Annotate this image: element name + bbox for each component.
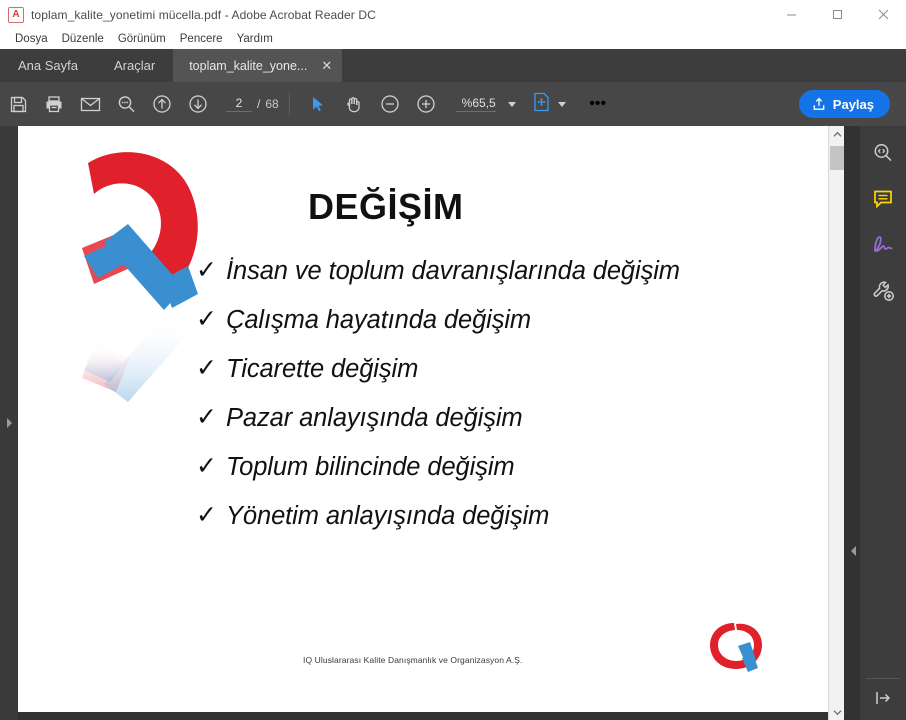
tools-add-icon[interactable] [866, 274, 900, 308]
share-label: Paylaş [833, 97, 874, 112]
find-icon[interactable] [108, 82, 144, 126]
menu-duzenle[interactable]: Düzenle [55, 33, 111, 45]
slide-content: DEĞİŞİM ✓ İnsan ve toplum davranışlarınd… [18, 126, 828, 712]
check-icon: ✓ [190, 354, 226, 384]
previous-page-icon[interactable] [144, 82, 180, 126]
acrobat-reader-window: toplam_kalite_yonetimi mücella.pdf - Ado… [0, 0, 906, 720]
minimize-button[interactable] [768, 0, 814, 29]
page-fit-icon[interactable] [532, 92, 551, 117]
bullet-text: İnsan ve toplum davranışlarında değişim [226, 256, 680, 286]
menu-bar: Dosya Düzenle Görünüm Pencere Yardım [0, 29, 906, 49]
zoom-level[interactable]: %65,5 [456, 96, 496, 112]
iq-logo-large [68, 138, 208, 438]
bullet-list: ✓ İnsan ve toplum davranışlarında değişi… [190, 256, 810, 550]
bullet-text: Yönetim anlayışında değişim [226, 501, 549, 531]
pdf-file-icon [8, 7, 24, 23]
zoom-in-icon[interactable] [408, 82, 444, 126]
menu-gorunum[interactable]: Görünüm [111, 33, 173, 45]
next-page-icon[interactable] [180, 82, 216, 126]
bullet-text: Ticarette değişim [226, 354, 418, 384]
page-fit-chevron-icon[interactable] [558, 102, 566, 107]
total-pages: 68 [265, 97, 278, 111]
save-icon[interactable] [0, 82, 36, 126]
menu-pencere[interactable]: Pencere [173, 33, 230, 45]
iq-logo-small [698, 618, 778, 680]
slide-footer: IQ Uluslararası Kalite Danışmanlık ve Or… [303, 655, 523, 665]
scrollbar-thumb[interactable] [830, 146, 844, 170]
check-icon: ✓ [190, 305, 226, 335]
expand-right-icon [5, 417, 14, 429]
bullet-item: ✓ Ticarette değişim [190, 354, 810, 384]
search-icon[interactable] [866, 136, 900, 170]
window-controls [768, 0, 906, 29]
menu-yardim[interactable]: Yardım [230, 33, 280, 45]
right-tool-panel [860, 126, 906, 720]
bullet-text: Toplum bilincinde değişim [226, 452, 515, 482]
panel-collapse-arrow[interactable] [846, 536, 860, 566]
menu-dosya[interactable]: Dosya [8, 33, 55, 45]
bullet-text: Pazar anlayışında değişim [226, 403, 523, 433]
document-viewer: DEĞİŞİM ✓ İnsan ve toplum davranışlarınd… [0, 126, 906, 720]
maximize-button[interactable] [814, 0, 860, 29]
tab-tools[interactable]: Araçlar [96, 49, 173, 82]
scroll-down-icon[interactable] [829, 704, 845, 720]
check-icon: ✓ [190, 452, 226, 482]
hand-tool-icon[interactable] [336, 82, 372, 126]
check-icon: ✓ [190, 256, 226, 286]
tab-document-label: toplam_kalite_yone... [189, 59, 307, 73]
signature-icon[interactable] [866, 228, 900, 262]
close-icon[interactable]: ✕ [321, 59, 332, 72]
title-bar: toplam_kalite_yonetimi mücella.pdf - Ado… [0, 0, 906, 29]
more-tools-icon[interactable]: ••• [580, 82, 616, 126]
pdf-page: DEĞİŞİM ✓ İnsan ve toplum davranışlarınd… [18, 126, 828, 712]
toolbar-divider-1 [289, 93, 290, 115]
select-tool-icon[interactable] [300, 82, 336, 126]
left-nav-rail[interactable] [0, 126, 18, 720]
page-navigation: 2 / 68 [226, 96, 279, 112]
collapse-panel-icon[interactable] [866, 678, 900, 712]
bullet-item: ✓ İnsan ve toplum davranışlarında değişi… [190, 256, 810, 286]
tab-home[interactable]: Ana Sayfa [0, 49, 96, 82]
print-icon[interactable] [36, 82, 72, 126]
check-icon: ✓ [190, 403, 226, 433]
tab-document[interactable]: toplam_kalite_yone... ✕ [173, 49, 342, 82]
share-button[interactable]: Paylaş [799, 90, 890, 118]
close-button[interactable] [860, 0, 906, 29]
comment-icon[interactable] [866, 182, 900, 216]
email-icon[interactable] [72, 82, 108, 126]
toolbar: 2 / 68 %65,5 [0, 82, 906, 126]
bullet-item: ✓ Yönetim anlayışında değişim [190, 501, 810, 531]
zoom-out-icon[interactable] [372, 82, 408, 126]
vertical-scrollbar[interactable] [828, 126, 844, 720]
current-page-input[interactable]: 2 [226, 96, 252, 112]
check-icon: ✓ [190, 501, 226, 531]
bullet-item: ✓ Pazar anlayışında değişim [190, 403, 810, 433]
scroll-up-icon[interactable] [829, 126, 845, 142]
tab-strip: Ana Sayfa Araçlar toplam_kalite_yone... … [0, 49, 906, 82]
window-title: toplam_kalite_yonetimi mücella.pdf - Ado… [31, 8, 376, 22]
bullet-item: ✓ Toplum bilincinde değişim [190, 452, 810, 482]
slide-title: DEĞİŞİM [308, 186, 464, 228]
bullet-text: Çalışma hayatında değişim [226, 305, 531, 335]
page-separator: / [257, 97, 260, 111]
chevron-down-icon[interactable] [508, 102, 516, 107]
bullet-item: ✓ Çalışma hayatında değişim [190, 305, 810, 335]
